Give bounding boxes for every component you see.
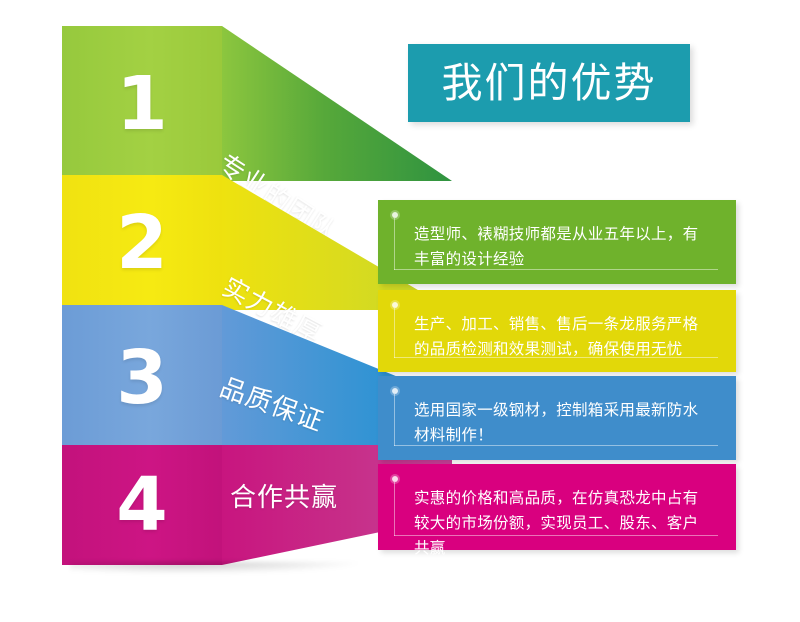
- info-card-2[interactable]: 生产、加工、销售、售后一条龙服务严格的品质检测和效果测试，确保使用无忧: [378, 290, 736, 372]
- info-card-3[interactable]: 选用国家一级钢材，控制箱采用最新防水材料制作！: [378, 376, 736, 460]
- bullet-dot-icon: [392, 476, 398, 482]
- page-title: 我们的优势: [442, 63, 657, 104]
- card-4-rule-vertical: [394, 482, 395, 536]
- infographic-canvas: 1 专业的团队 2: [0, 0, 800, 622]
- info-card-4[interactable]: 实惠的价格和高品质，在仿真恐龙中占有较大的市场份额，实现员工、股东、客户共赢: [378, 464, 736, 550]
- info-card-4-text: 实惠的价格和高品质，在仿真恐龙中占有较大的市场份额，实现员工、股东、客户共赢: [414, 486, 712, 561]
- info-card-1-text: 造型师、裱糊技师都是从业五年以上，有丰富的设计经验: [414, 222, 712, 272]
- info-card-1[interactable]: 造型师、裱糊技师都是从业五年以上，有丰富的设计经验: [378, 200, 736, 284]
- band-3-number: 3: [62, 305, 222, 450]
- ribbon-base-shadow: [70, 562, 360, 574]
- card-3-rule-vertical: [394, 394, 395, 446]
- bullet-dot-icon: [392, 302, 398, 308]
- band-3-block: 3: [62, 305, 222, 450]
- card-2-rule-vertical: [394, 308, 395, 358]
- bullet-dot-icon: [392, 212, 398, 218]
- info-card-3-text: 选用国家一级钢材，控制箱采用最新防水材料制作！: [414, 398, 712, 448]
- bullet-dot-icon: [392, 388, 398, 394]
- info-card-2-text: 生产、加工、销售、售后一条龙服务严格的品质检测和效果测试，确保使用无忧: [414, 312, 712, 362]
- band-2-block: 2: [62, 175, 222, 310]
- band-4-label: 合作共赢: [230, 477, 338, 514]
- band-1-number: 1: [62, 26, 222, 181]
- band-2-number: 2: [62, 175, 222, 310]
- card-1-rule-vertical: [394, 218, 395, 270]
- band-4-number: 4: [62, 445, 222, 565]
- headline-banner: 我们的优势: [408, 44, 690, 122]
- band-1-block: 1: [62, 26, 222, 181]
- band-4-block: 4: [62, 445, 222, 565]
